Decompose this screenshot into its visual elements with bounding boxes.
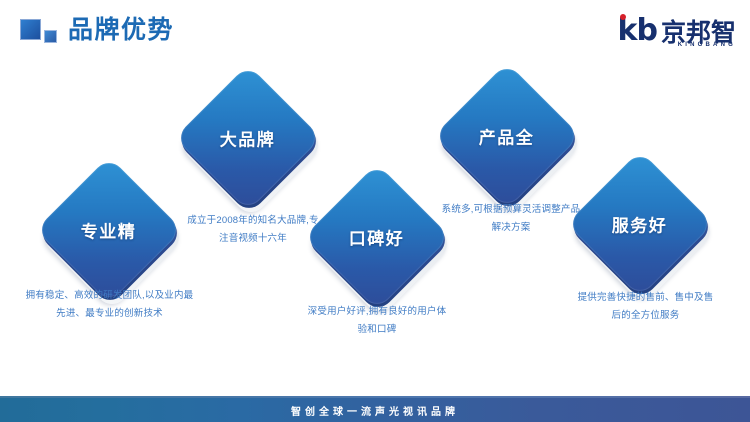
diamond-face-3: 口碑好 [303,163,450,310]
logo-pinyin: KINGBANG [678,42,736,48]
footer-slogan: 智创全球一流声光视讯品牌 [291,403,459,418]
diamond-face-2: 大品牌 [174,64,321,211]
feature-diamond-1[interactable]: 专业精 [57,178,161,282]
brand-logo: kb 京邦智 KINGBANG [618,12,736,46]
feature-caption-5: 提供完善快捷的售前、售中及售后的全方位服务 [573,289,718,325]
feature-label-1: 专业精 [81,218,137,243]
feature-label-3: 口碑好 [349,225,405,250]
decor-square-large-icon [20,19,41,40]
feature-label-4: 产品全 [479,124,535,149]
feature-label-2: 大品牌 [220,126,276,151]
logo-mark: kb [618,16,657,46]
feature-diamond-3[interactable]: 口碑好 [325,185,429,289]
diamond-face-1: 专业精 [35,156,182,303]
diamond-face-4: 产品全 [433,62,580,209]
diamond-face-5: 服务好 [566,150,713,297]
logo-dot-icon [620,14,626,20]
feature-label-5: 服务好 [612,212,668,237]
page-title: 品牌优势 [68,15,174,45]
feature-diamond-2[interactable]: 大品牌 [196,86,300,190]
feature-caption-2: 成立于2008年的知名大品牌,专注音视频十六年 [183,212,323,248]
feature-diamond-4[interactable]: 产品全 [455,84,559,188]
slide-header: 品牌优势 kb 京邦智 KINGBANG [0,0,750,62]
feature-caption-1: 拥有稳定、高效的研发团队,以及业内最先进、最专业的创新技术 [22,287,197,323]
feature-diamond-5[interactable]: 服务好 [588,172,692,276]
slide-footer: 智创全球一流声光视讯品牌 [0,398,750,422]
slide-canvas: 品牌优势 kb 京邦智 KINGBANG 专业精 拥有稳定、高效的研发团队,以及… [0,0,750,422]
feature-caption-4: 系统多,可根据预算灵活调整产品解决方案 [441,201,581,237]
feature-caption-3: 深受用户好评,拥有良好的用户体验和口碑 [307,303,447,339]
decor-square-small-icon [44,30,57,43]
